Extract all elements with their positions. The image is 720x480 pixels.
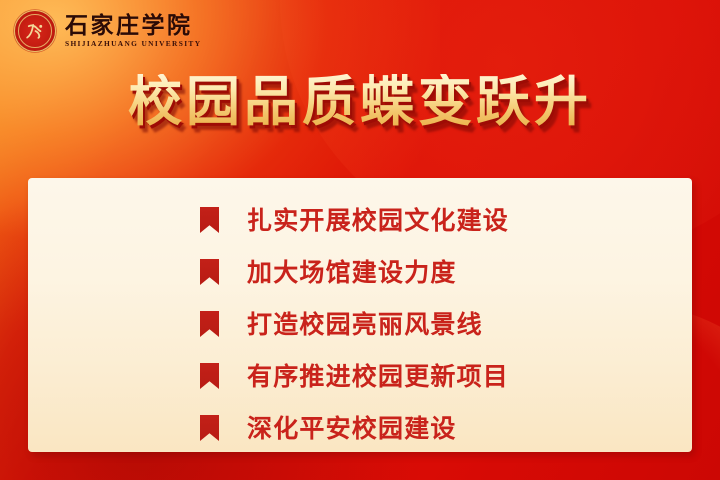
content-card: 扎实开展校园文化建设 加大场馆建设力度 打造校园亮丽风景线 有序推进校园更新项目… [28, 178, 692, 452]
list-item: 深化平安校园建设 [28, 402, 692, 454]
list-item: 打造校园亮丽风景线 [28, 298, 692, 350]
list-item: 有序推进校园更新项目 [28, 350, 692, 402]
university-name-block: 石家庄学院 SHIJIAZHUANG UNIVERSITY [65, 14, 201, 47]
page-title: 校园品质蝶变跃升 [128, 74, 592, 131]
bullet-list: 扎实开展校园文化建设 加大场馆建设力度 打造校园亮丽风景线 有序推进校园更新项目… [28, 194, 692, 454]
list-item: 扎实开展校园文化建设 [28, 194, 692, 246]
list-item-label: 深化平安校园建设 [247, 416, 457, 441]
list-item: 加大场馆建设力度 [28, 246, 692, 298]
bookmark-icon [200, 363, 219, 389]
list-item-label: 扎实开展校园文化建设 [247, 208, 509, 233]
poster-root: 石家庄学院 SHIJIAZHUANG UNIVERSITY 校园品质蝶变跃升 扎… [0, 0, 720, 480]
university-brand: 石家庄学院 SHIJIAZHUANG UNIVERSITY [14, 10, 201, 52]
list-item-label: 打造校园亮丽风景线 [247, 312, 483, 337]
university-name-cn: 石家庄学院 [65, 14, 201, 37]
university-seal-icon [14, 10, 56, 52]
university-name-en: SHIJIAZHUANG UNIVERSITY [65, 40, 201, 47]
list-item-label: 有序推进校园更新项目 [247, 364, 509, 389]
title-container: 校园品质蝶变跃升 [0, 74, 720, 131]
bookmark-icon [200, 415, 219, 441]
bookmark-icon [200, 259, 219, 285]
list-item-label: 加大场馆建设力度 [247, 260, 457, 285]
bookmark-icon [200, 311, 219, 337]
bookmark-icon [200, 207, 219, 233]
